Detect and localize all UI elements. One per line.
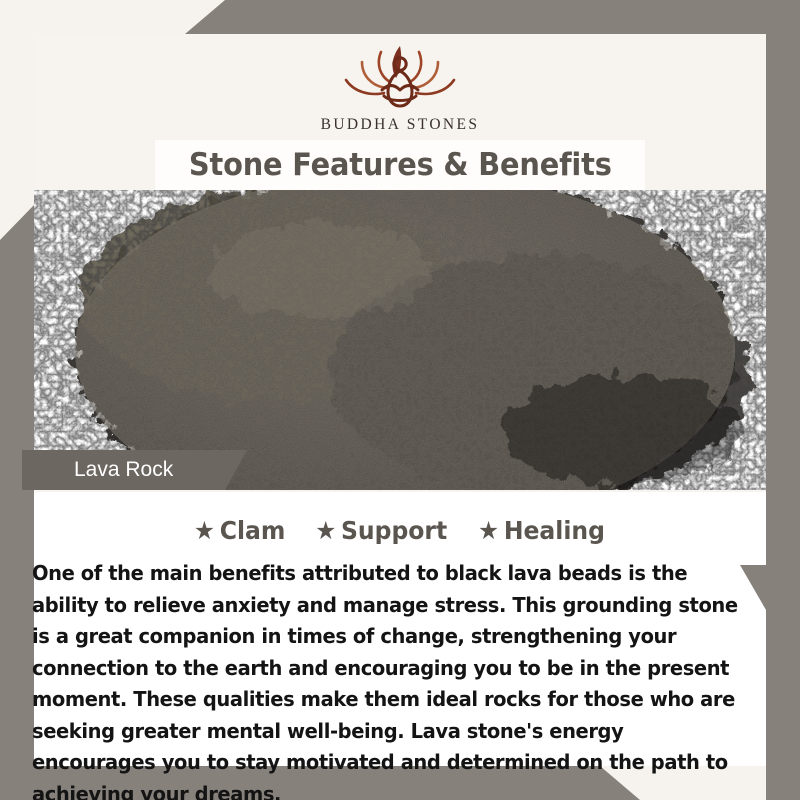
stone-benefits-card: BUDDHA STONES Stone Features & Benefits … <box>0 0 800 800</box>
brand-header: BUDDHA STONES <box>34 34 766 144</box>
stone-name-band: Lava Rock <box>22 450 247 490</box>
frame-right-border <box>766 0 800 800</box>
stone-name-label: Lava Rock <box>22 458 173 482</box>
star-icon: ★ <box>478 516 499 545</box>
benefit-label-3: Healing <box>504 516 605 545</box>
title-banner: Stone Features & Benefits <box>155 140 645 190</box>
star-icon: ★ <box>315 516 336 545</box>
frame-left-border <box>0 0 34 800</box>
benefit-label-2: Support <box>341 516 447 545</box>
benefit-item-3: ★Healing <box>478 516 605 545</box>
benefit-label-1: Clam <box>220 516 286 545</box>
frame-top-border <box>0 0 800 34</box>
benefits-row: ★Clam ★Support ★Healing <box>34 516 766 545</box>
lava-rock-photo <box>34 190 766 490</box>
brand-name: BUDDHA STONES <box>321 116 480 134</box>
body-paragraph: One of the main benefits attributed to b… <box>32 558 739 800</box>
lava-rock-image <box>34 190 766 490</box>
lotus-meditation-icon <box>340 38 460 112</box>
star-icon: ★ <box>194 516 215 545</box>
benefit-item-1: ★Clam <box>194 516 285 545</box>
benefit-item-2: ★Support <box>315 516 447 545</box>
page-title: Stone Features & Benefits <box>189 147 612 183</box>
